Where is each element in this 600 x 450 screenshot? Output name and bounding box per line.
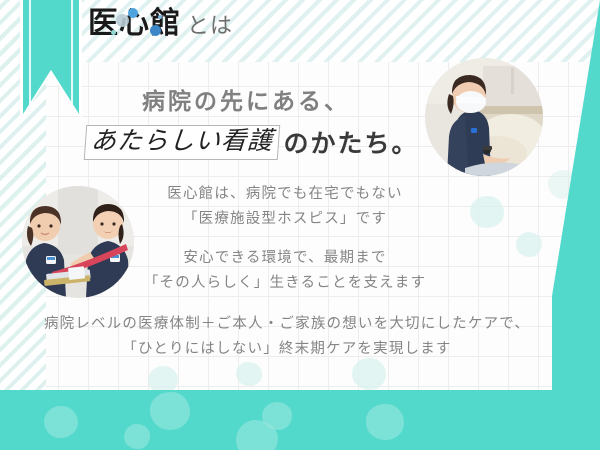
decorative-dot-icon bbox=[111, 30, 116, 35]
footer-blob bbox=[366, 404, 404, 440]
decorative-dot-icon bbox=[150, 25, 161, 36]
decorative-blob bbox=[236, 362, 262, 386]
page-title: 医心館 とは bbox=[88, 8, 233, 40]
photo-nurse-patient bbox=[425, 58, 543, 176]
photo-two-nurses bbox=[22, 186, 134, 298]
footer-blob bbox=[124, 424, 150, 449]
page-title-suffix: とは bbox=[187, 8, 233, 40]
photo-two-nurses-image bbox=[22, 186, 134, 298]
handwritten-tail-text: のかたち。 bbox=[284, 124, 419, 160]
decorative-blob bbox=[352, 358, 386, 390]
decorative-dot-icon bbox=[158, 15, 162, 19]
slide-canvas: 医心館 とは 病院の先にある、 あたらしい看護 のかたち。 医心館は、病院でも在… bbox=[0, 0, 600, 450]
footer-blob bbox=[44, 406, 78, 438]
handwritten-box-text: あたらしい看護 bbox=[84, 125, 280, 160]
decorative-dot-icon bbox=[116, 14, 129, 27]
footer-blob bbox=[150, 392, 190, 430]
body-paragraph-3: 病院レベルの医療体制＋ご本人・ご家族の想いを大切にしたケアで、 「ひとりにはしな… bbox=[0, 312, 600, 363]
body-line: 「ひとりにはしない」終末期ケアを実現します bbox=[26, 337, 548, 362]
footer-accent-bar bbox=[0, 390, 600, 450]
photo-nurse-patient-image bbox=[425, 58, 543, 176]
decorative-dot-icon bbox=[128, 8, 138, 18]
body-line: 病院レベルの医療体制＋ご本人・ご家族の想いを大切にしたケアで、 bbox=[26, 312, 548, 337]
